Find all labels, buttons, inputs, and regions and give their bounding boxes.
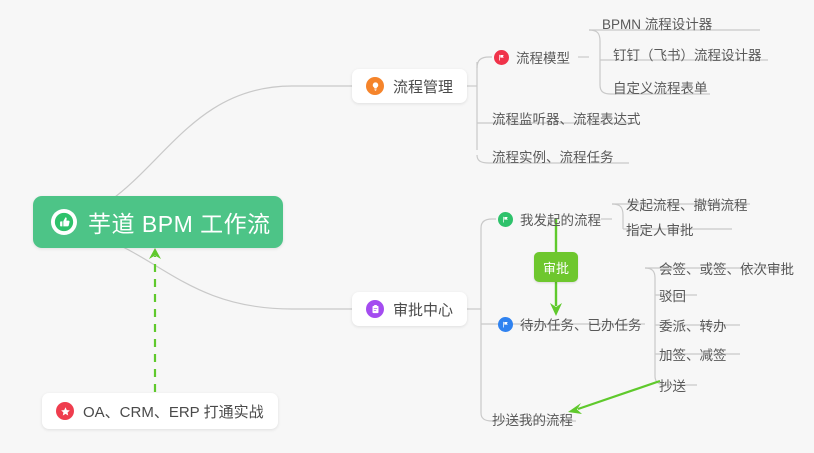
leaf-label: 驳回	[659, 285, 686, 305]
approval-badge: 审批	[534, 252, 578, 282]
leaf-delegate-transfer[interactable]: 委派、转办	[657, 312, 729, 338]
mindmap-canvas: 芋道 BPM 工作流 OA、CRM、ERP 打通实战 流程管理	[0, 0, 814, 453]
root-label: 芋道 BPM 工作流	[88, 205, 271, 239]
node-process-listener[interactable]: 流程监听器、流程表达式	[490, 105, 643, 131]
green-arrow-cc-to-ccflow	[568, 381, 660, 414]
dashed-arrow-note-to-root	[149, 248, 161, 392]
branch-process-management[interactable]: 流程管理	[352, 69, 467, 103]
edge-started-trunk	[612, 204, 623, 229]
flag-red-icon	[494, 50, 509, 65]
leaf-label: 自定义流程表单	[613, 77, 708, 97]
leaf-label: 发起流程、撤销流程	[626, 194, 748, 214]
edge-pm-to-model	[477, 57, 492, 68]
leaf-label: 指定人审批	[626, 219, 694, 239]
leaf-label: 钉钉（飞书）流程设计器	[613, 44, 762, 64]
branch-label: 审批中心	[393, 299, 453, 320]
leaf-custom-form[interactable]: 自定义流程表单	[611, 74, 710, 100]
node-my-started-flows[interactable]: 我发起的流程	[496, 206, 603, 232]
leaf-reject[interactable]: 驳回	[657, 282, 688, 308]
leaf-cc[interactable]: 抄送	[657, 372, 688, 398]
edge-ac-to-started	[481, 219, 496, 228]
leaf-start-cancel-flow[interactable]: 发起流程、撤销流程	[624, 191, 750, 217]
clipboard-icon	[366, 300, 384, 318]
flag-blue-icon	[498, 317, 513, 332]
leaf-label: 委派、转办	[659, 315, 727, 335]
edge-todo-trunk	[645, 268, 655, 376]
node-label: 待办任务、已办任务	[520, 314, 642, 334]
node-process-model[interactable]: 流程模型	[492, 44, 572, 70]
leaf-label: 加签、减签	[659, 344, 727, 364]
branch-label: 流程管理	[393, 76, 453, 97]
leaf-label: 抄送	[659, 375, 686, 395]
node-label: 抄送我的流程	[492, 409, 573, 429]
node-cc-to-me-flows[interactable]: 抄送我的流程	[490, 406, 575, 432]
leaf-add-remove-sign[interactable]: 加签、减签	[657, 341, 729, 367]
root-node[interactable]: 芋道 BPM 工作流	[33, 196, 283, 248]
lightbulb-icon	[366, 77, 384, 95]
leaf-countersign[interactable]: 会签、或签、依次审批	[657, 255, 796, 281]
leaf-assignee-approval[interactable]: 指定人审批	[624, 216, 696, 242]
badge-label: 审批	[543, 258, 569, 277]
leaf-dingtalk-designer[interactable]: 钉钉（飞书）流程设计器	[611, 41, 764, 67]
leaf-label: BPMN 流程设计器	[602, 13, 712, 33]
edge-model-trunk	[589, 30, 600, 85]
node-process-instance[interactable]: 流程实例、流程任务	[490, 143, 616, 169]
node-todo-done-tasks[interactable]: 待办任务、已办任务	[496, 311, 644, 337]
node-label: 流程监听器、流程表达式	[492, 108, 641, 128]
node-label: 流程实例、流程任务	[492, 146, 614, 166]
node-label: 我发起的流程	[520, 209, 601, 229]
thumbs-up-icon	[51, 209, 77, 235]
note-node[interactable]: OA、CRM、ERP 打通实战	[42, 393, 278, 429]
leaf-bpmn-designer[interactable]: BPMN 流程设计器	[600, 10, 714, 36]
branch-approval-center[interactable]: 审批中心	[352, 292, 467, 326]
node-label: 流程模型	[516, 47, 570, 67]
star-icon	[56, 402, 74, 420]
note-label: OA、CRM、ERP 打通实战	[83, 401, 264, 422]
flag-green-icon	[498, 212, 513, 227]
leaf-label: 会签、或签、依次审批	[659, 258, 794, 278]
